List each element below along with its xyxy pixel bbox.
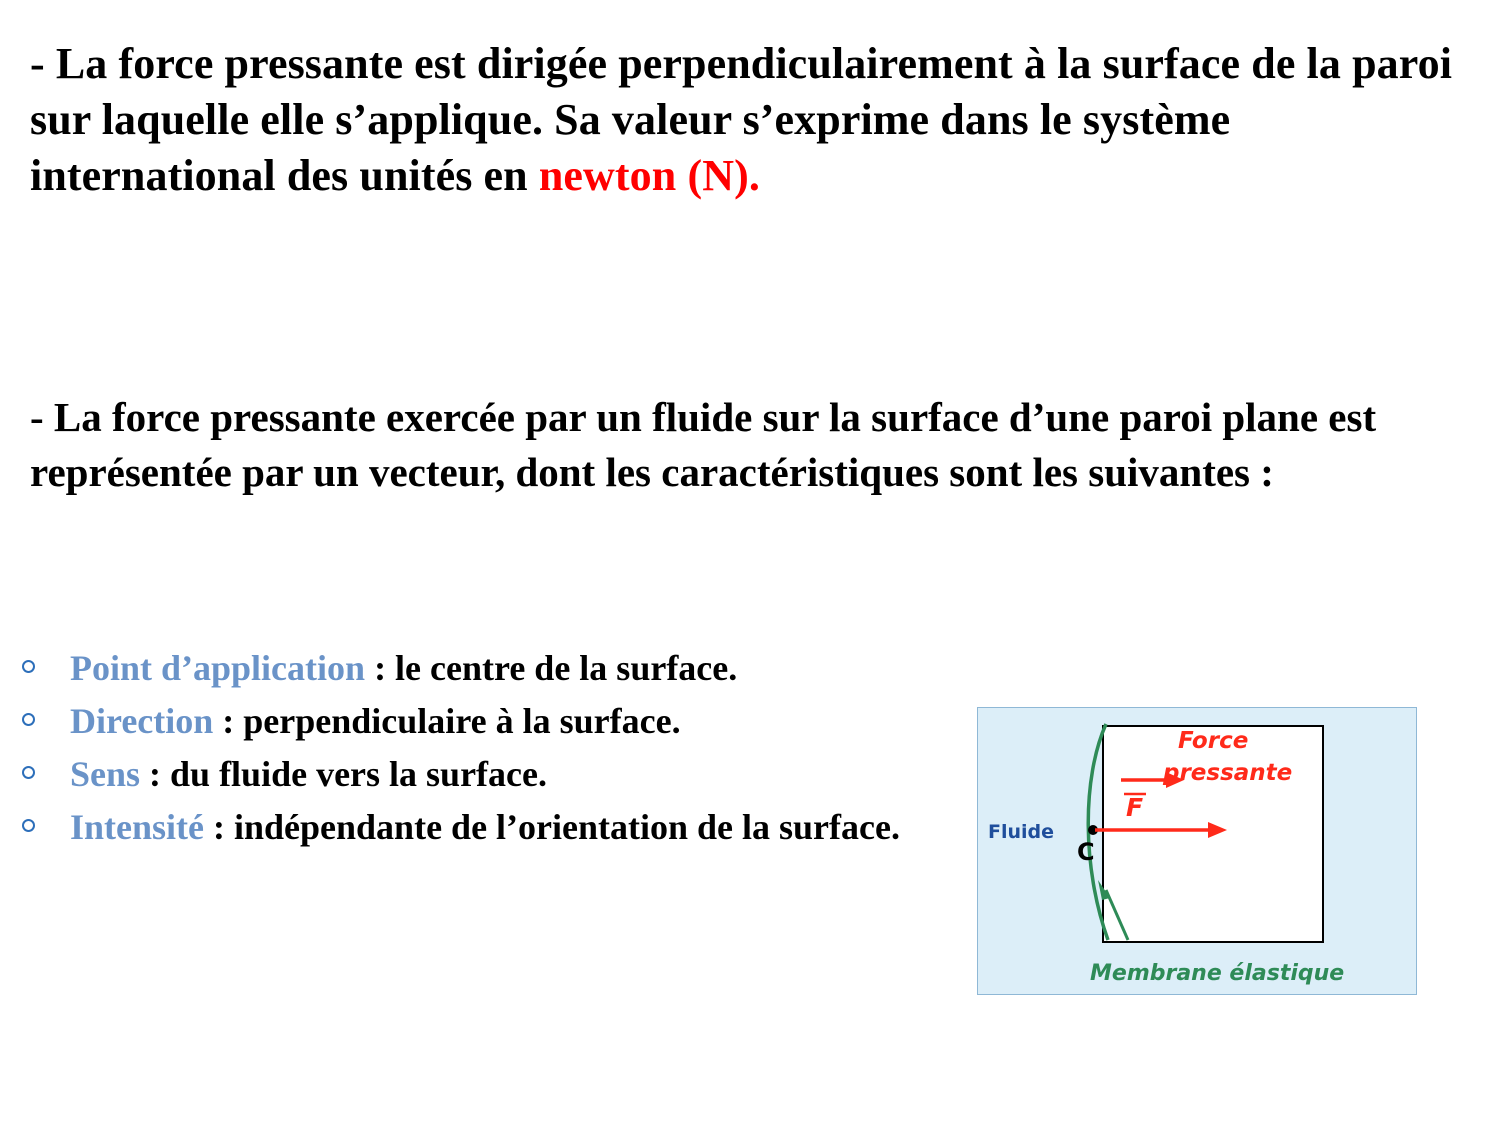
list-item: Intensité : indépendante de l’orientatio… [10,804,970,850]
bullet-dot-icon [22,819,35,832]
bullet-dot-icon [22,660,35,673]
bullet-text: : indépendante de l’orientation de la su… [204,807,900,847]
bullet-term: Point d’application [70,648,365,688]
bullet-text: : le centre de la surface. [365,648,737,688]
figure-label-vector-f: F [1126,793,1143,822]
bullet-text: : perpendiculaire à la surface. [213,701,680,741]
bullet-dot-icon [22,713,35,726]
list-item: Point d’application : le centre de la su… [10,645,970,691]
figure-label-membrane: Membrane élastique [1090,961,1344,986]
paragraph-force-pressante-definition: - La force pressante est dirigée perpend… [30,36,1480,204]
bullet-dot-icon [22,766,35,779]
figure-label-force: Force [1178,728,1248,754]
figure-label-point-c: C [1077,838,1095,866]
bullet-term: Intensité [70,807,204,847]
characteristics-list: Point d’application : le centre de la su… [10,645,970,857]
bullet-term: Sens [70,754,140,794]
list-item: Sens : du fluide vers la surface. [10,751,970,797]
bullet-term: Direction [70,701,213,741]
bullet-text: : du fluide vers la surface. [140,754,547,794]
paragraph1-highlight: newton (N). [539,151,760,200]
figure-label-fluide: Fluide [988,821,1054,843]
paragraph-vecteur-caracteristiques: - La force pressante exercée par un flui… [30,390,1480,499]
figure-label-pressante: pressante [1162,760,1292,786]
slide: - La force pressante est dirigée perpend… [0,0,1500,1125]
list-item: Direction : perpendiculaire à la surface… [10,698,970,744]
figure-diagram: Force pressante F C Fluide Membrane élas… [978,708,1416,994]
figure-force-pressante: Force pressante F C Fluide Membrane élas… [977,707,1417,995]
